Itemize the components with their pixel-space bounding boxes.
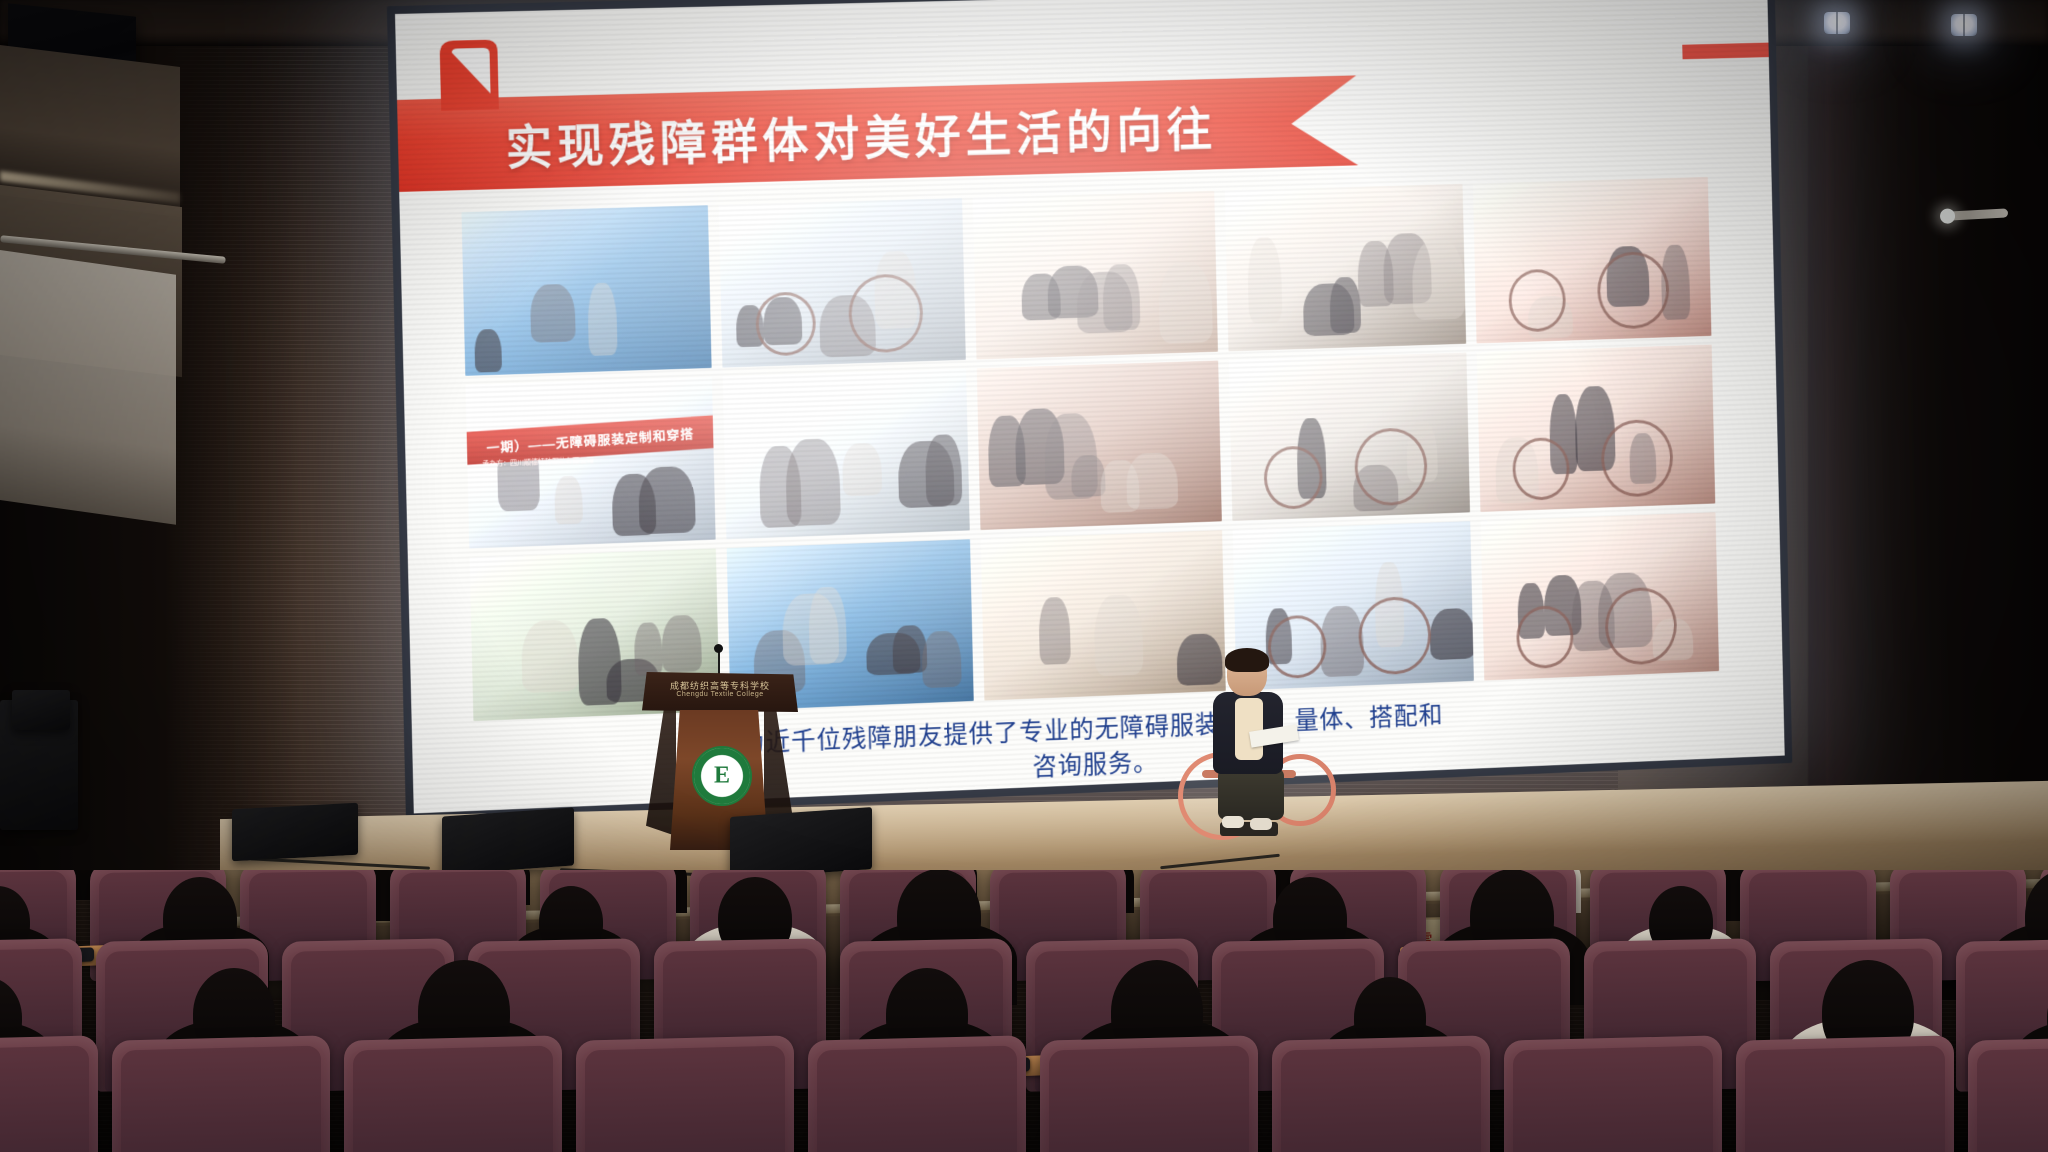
ceiling-spotlight <box>1824 12 1850 34</box>
lectern-side-left <box>646 708 676 836</box>
photo-light-overlay <box>1224 184 1466 351</box>
seat-cushion <box>1977 1046 2048 1152</box>
presenter-in-wheelchair <box>1180 650 1320 850</box>
presenter-shoe-right <box>1250 818 1272 830</box>
seat-cushion <box>1513 1046 1713 1152</box>
seat-cushion <box>817 1046 1017 1152</box>
seat-cushion <box>585 1046 785 1152</box>
photo-light-overlay <box>977 361 1221 530</box>
auditorium-seat <box>344 1035 562 1152</box>
audience-seating <box>0 870 2048 1152</box>
stage-monitor-1 <box>232 803 358 862</box>
slide-photo: 一期）——无障碍服装定制和穿搭承办方：四川顺德特种服装有限公司 <box>466 377 716 549</box>
slide-photo <box>1480 512 1719 680</box>
auditorium-seat <box>1736 1035 1954 1152</box>
slide-accent-bar <box>1682 43 1769 60</box>
slide-photo <box>1228 353 1469 521</box>
microphone-icon <box>714 644 723 653</box>
photo-light-overlay <box>719 198 966 368</box>
slide-photo-grid: 一期）——无障碍服装定制和穿搭承办方：四川顺德特种服装有限公司 <box>461 177 1719 721</box>
photo-light-overlay <box>1473 177 1712 343</box>
slide-photo <box>973 191 1217 360</box>
photo-light-overlay <box>1480 512 1719 680</box>
stage-monitor-2 <box>442 807 574 874</box>
lectern-school-name-en: Chengdu Textile College <box>662 691 778 698</box>
slide-title: 实现残障群体对美好生活的向往 <box>505 90 1218 177</box>
school-logo-letter: E <box>714 763 730 790</box>
slide-photo <box>719 198 966 368</box>
photo-light-overlay <box>466 377 716 549</box>
presenter-shoe-left <box>1222 816 1244 828</box>
ceiling-spotlight <box>1951 14 1977 36</box>
auditorium-seat <box>112 1035 330 1152</box>
slide-photo <box>1473 177 1712 343</box>
projection-screen: 实现残障群体对美好生活的向往 一期）——无障碍服装定制和穿搭承办方：四川顺德特种… <box>395 0 1785 813</box>
presenter-hair <box>1225 648 1269 672</box>
seat-cushion <box>121 1046 321 1152</box>
slide-photo <box>977 361 1221 530</box>
photo-light-overlay <box>461 205 711 376</box>
presenter-shirt <box>1235 698 1263 760</box>
photo-light-overlay <box>723 369 970 540</box>
ribbon-flag-icon <box>433 34 552 115</box>
photo-light-overlay <box>973 191 1217 360</box>
slide-photo <box>1224 184 1466 351</box>
auditorium-seat <box>0 1035 98 1152</box>
photo-light-overlay <box>1477 345 1716 512</box>
seat-cushion <box>1049 1046 1249 1152</box>
slide-surface: 实现残障群体对美好生活的向往 一期）——无障碍服装定制和穿搭承办方：四川顺德特种… <box>395 0 1785 813</box>
school-logo-icon: E <box>692 746 752 806</box>
auditorium-seat <box>1272 1035 1490 1152</box>
auditorium-seat <box>1040 1035 1258 1152</box>
slide-photo <box>1477 345 1716 512</box>
microphone-stem <box>718 650 720 674</box>
auditorium-scene: 实现残障群体对美好生活的向往 一期）——无障碍服装定制和穿搭承办方：四川顺德特种… <box>0 0 2048 1152</box>
auditorium-seat <box>808 1035 1026 1152</box>
presenter-legs <box>1218 768 1284 820</box>
stage-monitor-3 <box>730 807 872 879</box>
seat-cushion <box>0 1046 89 1152</box>
slide-photo <box>723 369 970 540</box>
side-speaker-top <box>12 690 70 730</box>
photo-light-overlay <box>1228 353 1469 521</box>
auditorium-seat <box>1968 1035 2048 1152</box>
auditorium-seat <box>1504 1035 1722 1152</box>
seat-cushion <box>353 1046 553 1152</box>
wall-board <box>0 249 176 525</box>
slide-photo <box>461 205 711 376</box>
seat-cushion <box>1745 1046 1945 1152</box>
seat-cushion <box>1281 1046 1481 1152</box>
auditorium-seat <box>576 1035 794 1152</box>
